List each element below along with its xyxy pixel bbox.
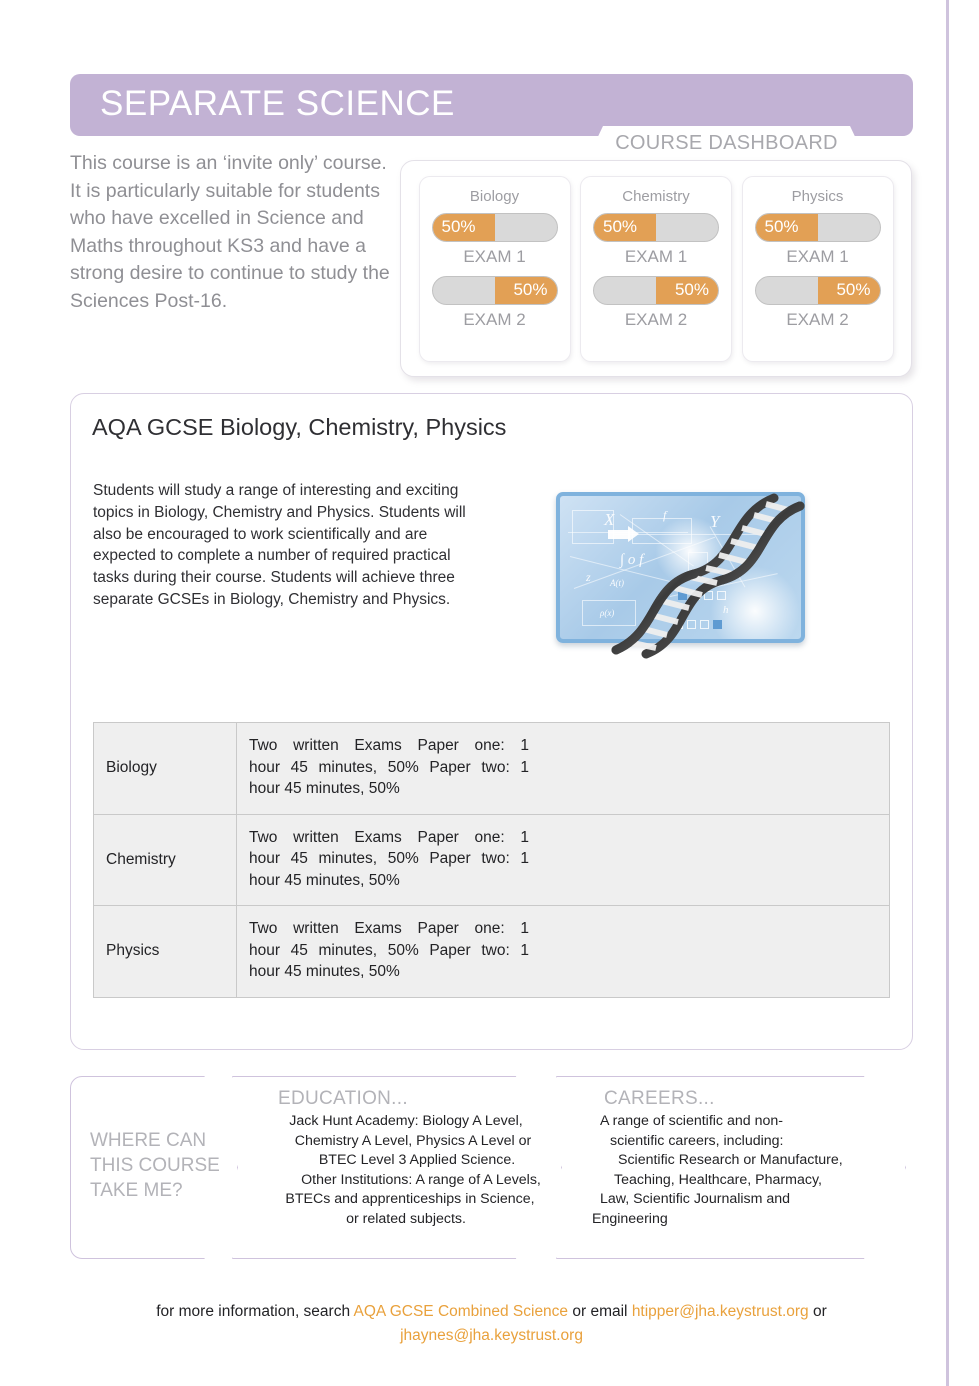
careers-line: scientific careers, including: <box>592 1132 902 1152</box>
education-text: Jack Hunt Academy: Biology A Level, Chem… <box>262 1112 550 1229</box>
careers-line: Engineering <box>592 1211 668 1227</box>
course-info-page: SEPARATE SCIENCE This course is an ‘invi… <box>0 0 979 1386</box>
progress-bar-exam2: 50% <box>593 276 719 305</box>
subject-name: Biology <box>470 188 519 205</box>
exam2-label: EXAM 2 <box>786 310 848 330</box>
progress-value: 50% <box>594 217 646 237</box>
subject-card-physics: Physics 50% EXAM 1 50% EXAM 2 <box>742 176 894 362</box>
footer-mid: or email <box>568 1303 632 1320</box>
footer-post: or <box>809 1303 827 1320</box>
course-description: Students will study a range of interesti… <box>93 480 473 611</box>
search-term-link[interactable]: AQA GCSE Combined Science <box>354 1303 569 1320</box>
exam1-label: EXAM 1 <box>463 247 525 267</box>
table-row: Biology Two written Exams Paper one: 1 h… <box>94 723 890 815</box>
exam1-label: EXAM 1 <box>786 247 848 267</box>
education-line: or related subjects. <box>262 1210 550 1230</box>
footer-contact: for more information, search AQA GCSE Co… <box>70 1300 913 1348</box>
careers-line: Law, Scientific Journalism and <box>592 1190 902 1210</box>
progress-bar-exam1: 50% <box>755 213 881 242</box>
right-edge-rule <box>946 0 949 1386</box>
table-cell-detail: Two written Exams Paper one: 1 hour 45 m… <box>237 814 890 906</box>
detail-line: Two written Exams Paper one: 1 <box>249 918 529 940</box>
progress-value: 50% <box>827 280 879 300</box>
progress-bar-exam1: 50% <box>432 213 558 242</box>
progress-value: 50% <box>433 217 485 237</box>
table-cell-detail: Two written Exams Paper one: 1 hour 45 m… <box>237 906 890 998</box>
page-title: SEPARATE SCIENCE <box>100 84 455 124</box>
exam-structure-table: Biology Two written Exams Paper one: 1 h… <box>93 722 890 998</box>
table-cell-detail: Two written Exams Paper one: 1 hour 45 m… <box>237 723 890 815</box>
education-line: Chemistry A Level, Physics A Level or <box>262 1132 550 1152</box>
exam1-label: EXAM 1 <box>625 247 687 267</box>
education-line: Jack Hunt Academy: Biology A Level, <box>262 1112 550 1132</box>
subject-card-biology: Biology 50% EXAM 1 50% EXAM 2 <box>419 176 571 362</box>
detail-line: hour 45 minutes, 50% Paper two: 1 <box>249 940 529 962</box>
table-cell-subject: Biology <box>94 723 237 815</box>
progress-value: 50% <box>504 280 556 300</box>
dashboard-label: COURSE DASHBOARD <box>585 132 868 155</box>
dna-helix-icon <box>598 482 816 662</box>
detail-line: Two written Exams Paper one: 1 <box>249 735 529 757</box>
exam2-label: EXAM 2 <box>625 310 687 330</box>
careers-text: A range of scientific and non- scientifi… <box>592 1112 902 1229</box>
education-heading: EDUCATION... <box>278 1088 408 1110</box>
progress-value: 50% <box>666 280 718 300</box>
table-cell-subject: Chemistry <box>94 814 237 906</box>
education-line: BTECs and apprenticeships in Science, <box>262 1190 550 1210</box>
detail-line: hour 45 minutes, 50% Paper two: 1 <box>249 757 529 779</box>
email-link-2[interactable]: jhaynes@jha.keystrust.org <box>400 1327 583 1344</box>
education-line: Other Institutions: A range of A Levels, <box>262 1171 550 1191</box>
email-link-1[interactable]: htipper@jha.keystrust.org <box>632 1303 809 1320</box>
subject-name: Physics <box>792 188 844 205</box>
detail-line: hour 45 minutes, 50% <box>249 961 875 983</box>
table-row: Physics Two written Exams Paper one: 1 h… <box>94 906 890 998</box>
course-title: AQA GCSE Biology, Chemistry, Physics <box>92 414 506 441</box>
intro-paragraph: This course is an ‘invite only’ course. … <box>70 150 390 315</box>
footer-prefix: for more information, search <box>156 1303 353 1320</box>
careers-line: A range of scientific and non- <box>592 1112 902 1132</box>
careers-line: Teaching, Healthcare, Pharmacy, <box>592 1171 902 1191</box>
progress-value: 50% <box>756 217 808 237</box>
course-dashboard-panel: Biology 50% EXAM 1 50% EXAM 2 Chemistry … <box>400 160 912 377</box>
progress-bar-exam2: 50% <box>432 276 558 305</box>
detail-line: hour 45 minutes, 50% Paper two: 1 <box>249 848 529 870</box>
careers-heading: CAREERS... <box>604 1088 715 1110</box>
subject-card-chemistry: Chemistry 50% EXAM 1 50% EXAM 2 <box>580 176 732 362</box>
exam2-label: EXAM 2 <box>463 310 525 330</box>
subject-name: Chemistry <box>622 188 690 205</box>
pathway-prompt: WHERE CAN THIS COURSE TAKE ME? <box>90 1128 230 1203</box>
education-line: BTEC Level 3 Applied Science. <box>262 1151 550 1171</box>
detail-line: hour 45 minutes, 50% <box>249 870 875 892</box>
detail-line: hour 45 minutes, 50% <box>249 778 875 800</box>
detail-line: Two written Exams Paper one: 1 <box>249 827 529 849</box>
table-cell-subject: Physics <box>94 906 237 998</box>
careers-line: Scientific Research or Manufacture, <box>592 1151 902 1171</box>
table-row: Chemistry Two written Exams Paper one: 1… <box>94 814 890 906</box>
progress-bar-exam1: 50% <box>593 213 719 242</box>
dna-helix-science-screen-illustration: X f Y ∫ o f z q A(t) ρ(x) h <box>556 492 816 652</box>
progress-bar-exam2: 50% <box>755 276 881 305</box>
